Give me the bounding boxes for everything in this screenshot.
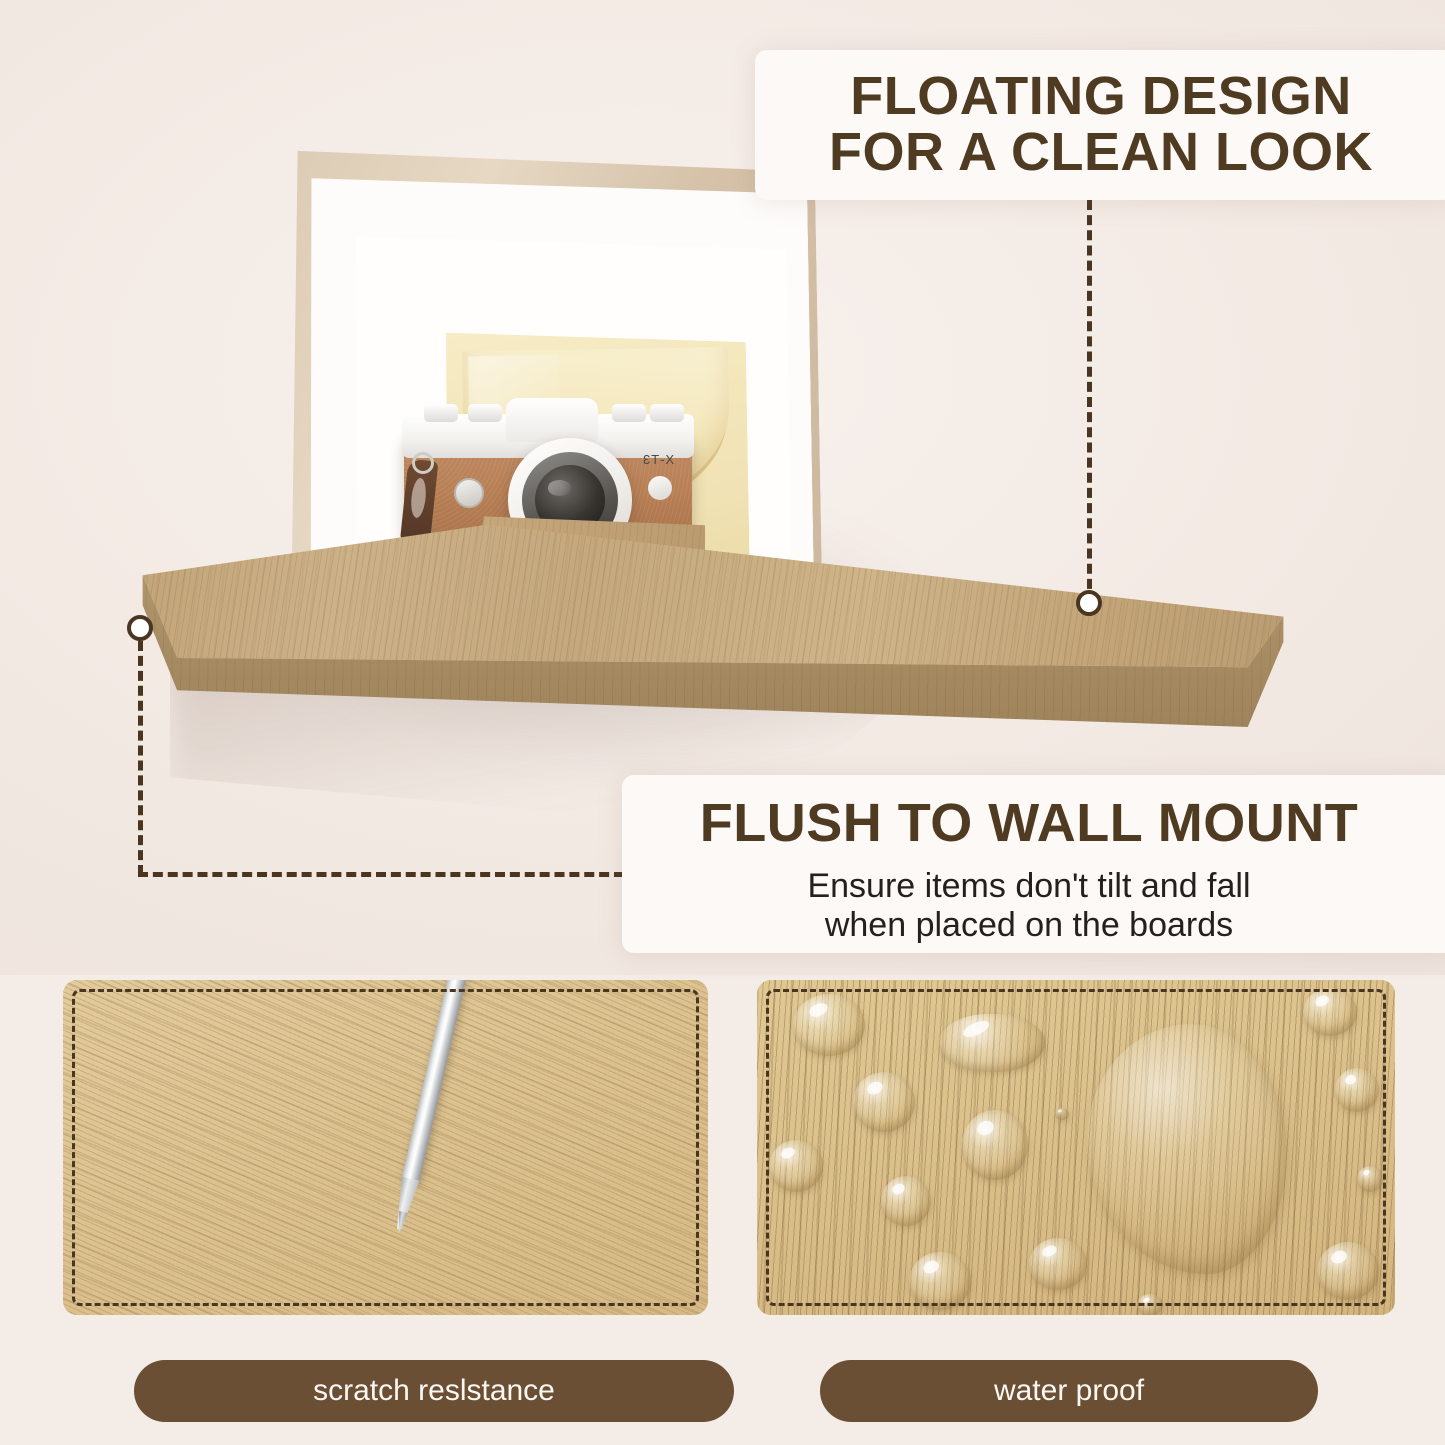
water-drop-icon xyxy=(1357,1166,1383,1192)
screwdriver-tip xyxy=(390,1177,419,1232)
screwdriver-point xyxy=(394,1211,408,1234)
water-drop-icon xyxy=(1055,1108,1069,1120)
water-drop-icon xyxy=(881,1176,931,1226)
feature-swatch-water-proof xyxy=(757,980,1395,1315)
camera-strap-lug xyxy=(412,452,434,474)
water-drop-icon xyxy=(793,994,865,1056)
floating-shelf-board xyxy=(138,520,1288,750)
feature-label-water-proof: water proof xyxy=(820,1360,1318,1422)
marker-dot-shelf-left-edge xyxy=(127,615,153,641)
water-drop-icon xyxy=(962,1110,1028,1180)
water-drop-icon xyxy=(1335,1068,1379,1112)
camera-viewfinder-hump xyxy=(506,398,598,442)
camera-brand-label: X-T3 xyxy=(642,452,674,467)
feature-swatch-scratch-resistance xyxy=(63,980,708,1315)
feature-label-scratch-resistance: scratch reslstance xyxy=(134,1360,734,1422)
infographic-canvas: X-T3 FLOAT xyxy=(0,0,1445,1445)
callout-card-flush-mount: FLUSH TO WALL MOUNT Ensure items don't t… xyxy=(622,775,1445,953)
water-drop-icon xyxy=(1303,988,1357,1036)
water-drop-icon xyxy=(1317,1242,1379,1300)
callout-heading-flush-mount: FLUSH TO WALL MOUNT xyxy=(634,795,1424,851)
callout-subtitle-line1: Ensure items don't tilt and fall xyxy=(807,867,1250,905)
connector-line-flush-horizontal xyxy=(138,872,624,877)
camera-front-button xyxy=(648,476,672,500)
callout-card-floating-design: FLOATING DESIGN FOR A CLEAN LOOK xyxy=(755,50,1445,200)
water-drop-icon xyxy=(853,1072,915,1132)
camera-dial xyxy=(650,404,684,422)
camera-dial xyxy=(612,404,646,422)
callout-subtitle-flush-mount: Ensure items don't tilt and fall when pl… xyxy=(634,867,1424,946)
camera-dial xyxy=(424,404,458,422)
water-drop-icon xyxy=(1137,1294,1163,1315)
callout-heading-floating-design: FLOATING DESIGN FOR A CLEAN LOOK xyxy=(771,68,1431,180)
camera-lens-reflection xyxy=(548,480,572,495)
connector-line-flush-vertical xyxy=(138,641,143,875)
water-drop-icon xyxy=(1029,1238,1087,1290)
water-drop-icon xyxy=(939,1014,1045,1072)
camera-dial xyxy=(468,404,502,422)
callout-subtitle-line2: when placed on the boards xyxy=(825,906,1233,944)
connector-line-floating-design xyxy=(1087,200,1092,604)
callout-heading-line1: FLOATING DESIGN xyxy=(850,66,1352,126)
callout-heading-line2: FOR A CLEAN LOOK xyxy=(829,122,1373,182)
water-drop-icon xyxy=(909,1252,971,1310)
camera-front-dial xyxy=(454,478,484,508)
marker-dot-shelf-back-edge xyxy=(1076,590,1102,616)
water-drop-icon xyxy=(769,1140,823,1192)
wood-grain-texture-diagonal xyxy=(63,980,708,1315)
